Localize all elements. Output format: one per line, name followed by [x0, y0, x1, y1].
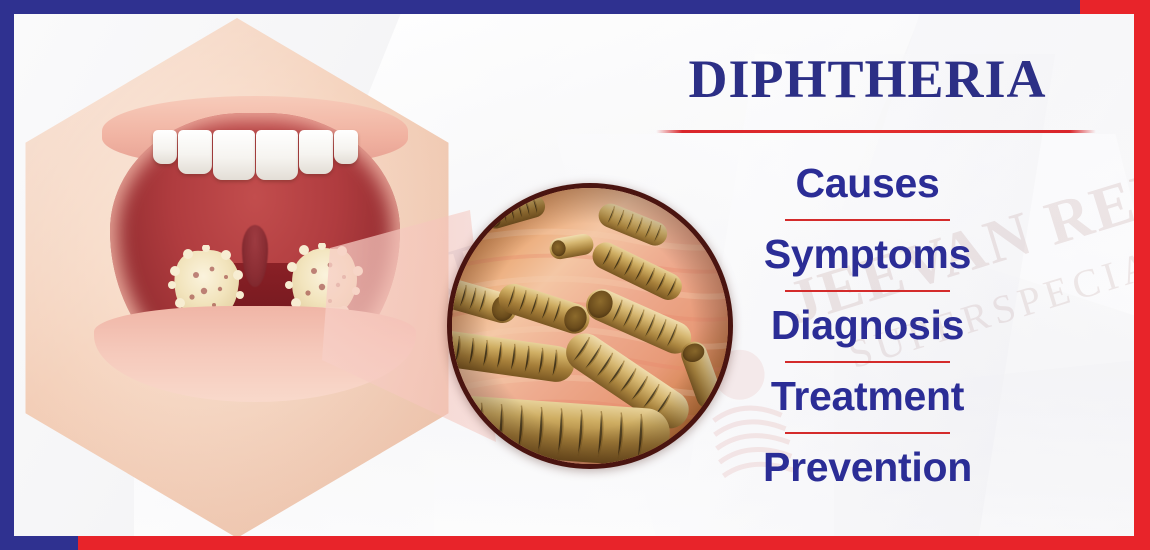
title-underline: [656, 130, 1096, 133]
tooth: [213, 130, 255, 180]
topic-label-diagnosis[interactable]: Diagnosis: [640, 296, 1095, 354]
border-right: [1134, 0, 1150, 550]
topic-separator: [785, 361, 950, 363]
border-top-red-accent: [1080, 0, 1150, 14]
content-panel: DIPHTHERIA Causes Symptoms Diagnosis Tre…: [640, 26, 1110, 526]
border-bottom: [0, 536, 1150, 550]
diphtheria-infographic-banner: JEEVAN REKHA SUPERSPECIALITY JEEVAN REKH…: [0, 0, 1150, 550]
topic-separator: [785, 219, 950, 221]
tooth: [334, 130, 358, 164]
topic-separator: [785, 290, 950, 292]
border-left: [0, 0, 14, 538]
topic-label-prevention[interactable]: Prevention: [640, 438, 1095, 496]
topic-row-treatment: Treatment: [640, 367, 1095, 438]
topic-row-symptoms: Symptoms: [640, 225, 1095, 296]
mouth-illustration: [12, 18, 462, 538]
topic-row-diagnosis: Diagnosis: [640, 296, 1095, 367]
topic-row-causes: Causes: [640, 154, 1095, 225]
tooth: [153, 130, 177, 164]
border-bottom-blue-accent: [0, 536, 78, 550]
topic-label-treatment[interactable]: Treatment: [640, 367, 1095, 425]
topic-label-symptoms[interactable]: Symptoms: [640, 225, 1095, 283]
tooth: [256, 130, 298, 180]
upper-teeth-row: [120, 130, 390, 186]
tooth: [299, 130, 333, 174]
tooth: [178, 130, 212, 174]
topic-label-causes[interactable]: Causes: [640, 154, 1095, 212]
topic-list: Causes Symptoms Diagnosis Treatment Prev…: [640, 154, 1095, 509]
page-title: DIPHTHERIA: [640, 52, 1095, 106]
topic-separator: [785, 432, 950, 434]
topic-row-prevention: Prevention: [640, 438, 1095, 509]
border-top: [0, 0, 1150, 14]
